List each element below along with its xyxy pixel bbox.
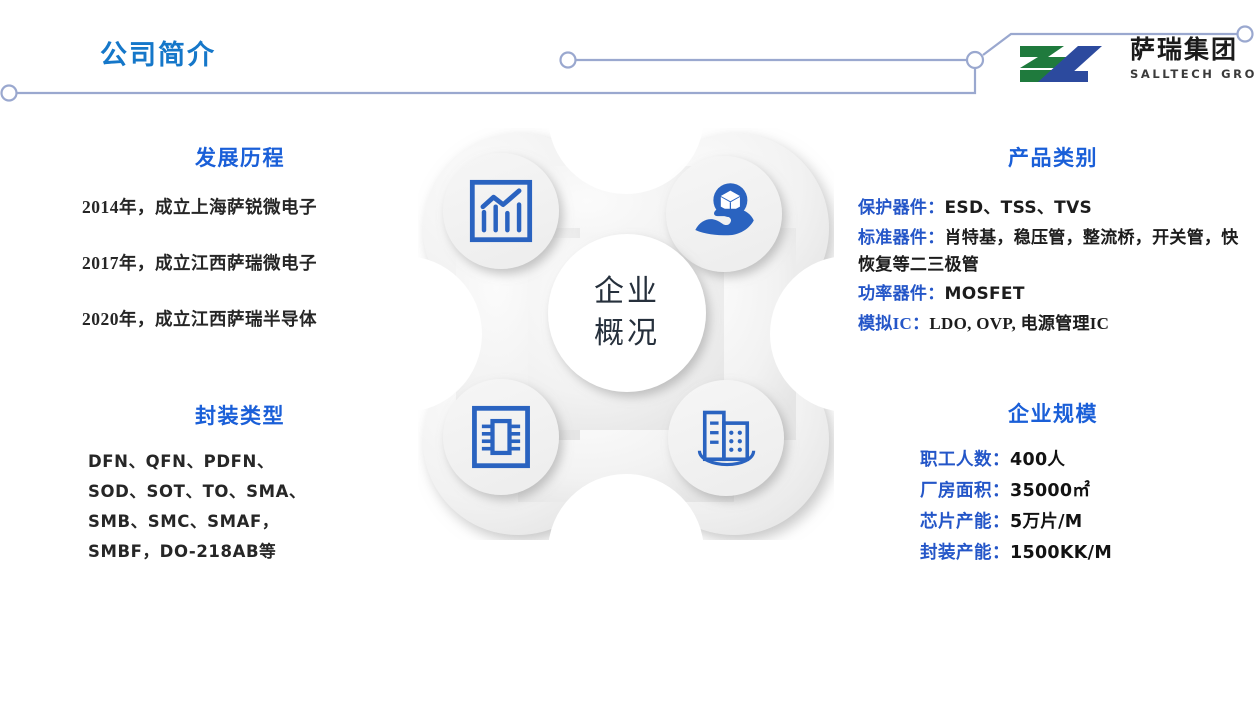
- section-package-types: 封装类型 DFN、QFN、PDFN、 SOD、SOT、TO、SMA、 SMB、S…: [60, 400, 420, 570]
- section-heading-product: 产品类别: [858, 142, 1248, 172]
- product-value: ESD、TSS、TVS: [945, 198, 1093, 218]
- center-label: 企业 概况: [564, 248, 690, 378]
- product-value: LDO, OVP, 电源管理IC: [929, 314, 1109, 333]
- product-value: MOSFET: [945, 284, 1025, 304]
- scale-label: 芯片产能：: [920, 511, 1010, 531]
- chip-package-icon: [467, 403, 535, 471]
- page-title: 公司简介: [100, 33, 216, 72]
- scale-row: 芯片产能：5万片/M: [858, 508, 1248, 536]
- history-item: 2020年，成立江西萨瑞半导体: [82, 306, 420, 331]
- history-item: 2017年，成立江西萨瑞微电子: [82, 250, 420, 275]
- scale-label: 封装产能：: [920, 542, 1010, 562]
- logo-name-cn: 萨瑞集团: [1130, 36, 1238, 64]
- logo-mark-icon: [1018, 38, 1121, 90]
- hand-holding-box-icon: [690, 180, 758, 248]
- history-item: 2014年，成立上海萨锐微电子: [82, 194, 420, 219]
- product-label: 保护器件：: [858, 198, 945, 217]
- center-label-line1: 企业: [594, 271, 660, 313]
- section-development-history: 发展历程 2014年，成立上海萨锐微电子 2017年，成立江西萨瑞微电子 202…: [60, 142, 420, 362]
- page-header: 公司简介 萨瑞集团 SALLTECH GROUP: [0, 0, 1255, 118]
- section-product-categories: 产品类别 保护器件：ESD、TSS、TVS 标准器件：肖特基，稳压管，整流桥，开…: [858, 142, 1248, 339]
- product-row: 功率器件：MOSFET: [858, 280, 1248, 308]
- product-label: 功率器件：: [858, 284, 945, 303]
- scale-row: 封装产能：1500KK/M: [858, 539, 1248, 567]
- deco-circle-left: [2, 86, 17, 101]
- section-heading-history: 发展历程: [60, 142, 420, 172]
- enterprise-overview-diagram: 企业 概况: [418, 128, 834, 540]
- scale-value: 400人: [1010, 450, 1065, 470]
- logo-name-en: SALLTECH GROUP: [1130, 67, 1255, 81]
- scale-value: 5万片/M: [1010, 512, 1082, 532]
- center-label-line2: 概况: [594, 313, 660, 355]
- product-row: 保护器件：ESD、TSS、TVS: [858, 194, 1248, 222]
- deco-circle-middle: [561, 53, 576, 68]
- scale-value: 1500KK/M: [1010, 543, 1112, 563]
- product-label: 模拟IC：: [858, 314, 929, 333]
- buildings-icon: [692, 404, 760, 472]
- scale-label: 职工人数：: [920, 449, 1010, 469]
- product-row: 模拟IC：LDO, OVP, 电源管理IC: [858, 310, 1248, 337]
- deco-circle-right: [1238, 27, 1253, 42]
- package-line: SMBF，DO-218AB等: [88, 540, 420, 564]
- section-heading-scale: 企业规模: [858, 398, 1248, 428]
- section-enterprise-scale: 企业规模 职工人数：400人 厂房面积：35000㎡ 芯片产能：5万片/M 封装…: [858, 398, 1248, 570]
- scale-row: 厂房面积：35000㎡: [858, 477, 1248, 505]
- company-logo: 萨瑞集团 SALLTECH GROUP: [1018, 36, 1228, 94]
- package-line: SOD、SOT、TO、SMA、: [88, 480, 420, 504]
- package-line: SMB、SMC、SMAF，: [88, 510, 420, 534]
- scale-value: 35000㎡: [1010, 481, 1090, 501]
- package-line: DFN、QFN、PDFN、: [88, 450, 420, 474]
- scale-label: 厂房面积：: [920, 480, 1010, 500]
- product-row: 标准器件：肖特基，稳压管，整流桥，开关管，快恢复等二三极管: [858, 224, 1248, 278]
- section-heading-package: 封装类型: [60, 400, 420, 430]
- deco-circle-junction: [967, 52, 983, 68]
- scale-row: 职工人数：400人: [858, 446, 1248, 474]
- product-label: 标准器件：: [858, 228, 945, 247]
- bar-chart-icon: [467, 177, 535, 245]
